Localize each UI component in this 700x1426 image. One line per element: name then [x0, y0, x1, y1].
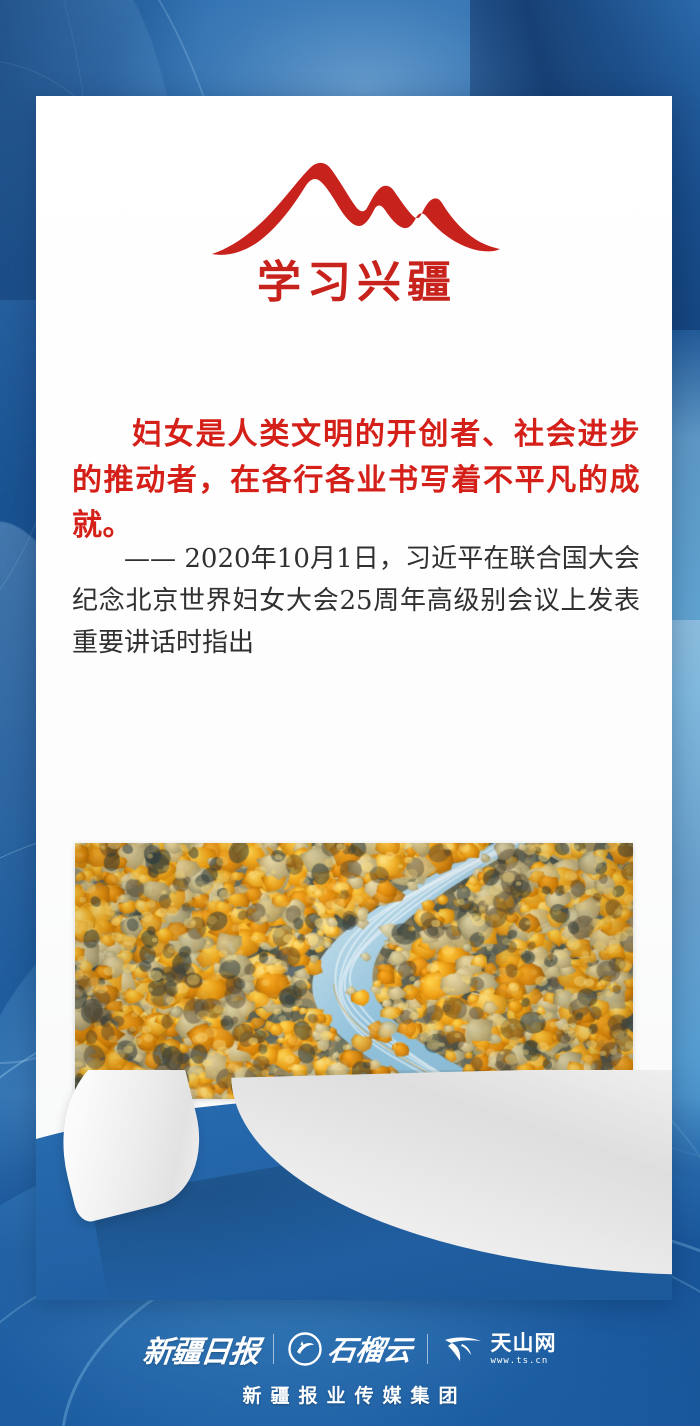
footer-logo-xinjiang-daily[interactable]: 新疆日报: [129, 1326, 273, 1372]
tianshan-logo-text: 天山网: [491, 1333, 557, 1354]
shiliuyun-logo-text: 石榴云: [326, 1329, 416, 1369]
quote-text: 妇女是人类文明的开创者、社会进步的推动者，在各行各业书写着不平凡的成就。: [72, 412, 640, 549]
tianshan-logo-url: www.ts.cn: [491, 1357, 557, 1366]
feature-photo: [75, 843, 633, 1099]
red-mountain-icon: [204, 158, 504, 263]
footer-logo-tianshan[interactable]: 天山网 www.ts.cn: [428, 1326, 571, 1372]
qr-code-icon[interactable]: [527, 1135, 621, 1229]
footer-logo-shiliuyun[interactable]: 石榴云: [274, 1326, 426, 1372]
quote-source: —— 2020年10月1日，习近平在联合国大会纪念北京世界妇女大会25周年高级别…: [72, 538, 640, 664]
xinjiang-daily-logo-text: 新疆日报: [141, 1327, 262, 1371]
shiliuyun-circle-icon: [288, 1332, 322, 1366]
qr-block[interactable]: 扫码读原文: [517, 1128, 631, 1272]
qr-frame: [517, 1128, 631, 1236]
content-card: 学习兴疆 妇女是人类文明的开创者、社会进步的推动者，在各行各业书写着不平凡的成就…: [36, 96, 672, 1300]
footer: 新疆日报 石榴云: [0, 1326, 700, 1408]
footer-logo-row: 新疆日报 石榴云: [129, 1326, 570, 1372]
brand-logo: 学习兴疆: [36, 158, 672, 307]
footer-group-name: 新疆报业传媒集团: [233, 1381, 466, 1408]
autumn-forest-river-image: [75, 843, 633, 1099]
poster-root: 学习兴疆 妇女是人类文明的开创者、社会进步的推动者，在各行各业书写着不平凡的成就…: [0, 0, 700, 1426]
qr-caption: 扫码读原文: [517, 1246, 631, 1272]
logo-title: 学习兴疆: [251, 259, 457, 307]
tianshan-mark-icon: [442, 1333, 484, 1365]
